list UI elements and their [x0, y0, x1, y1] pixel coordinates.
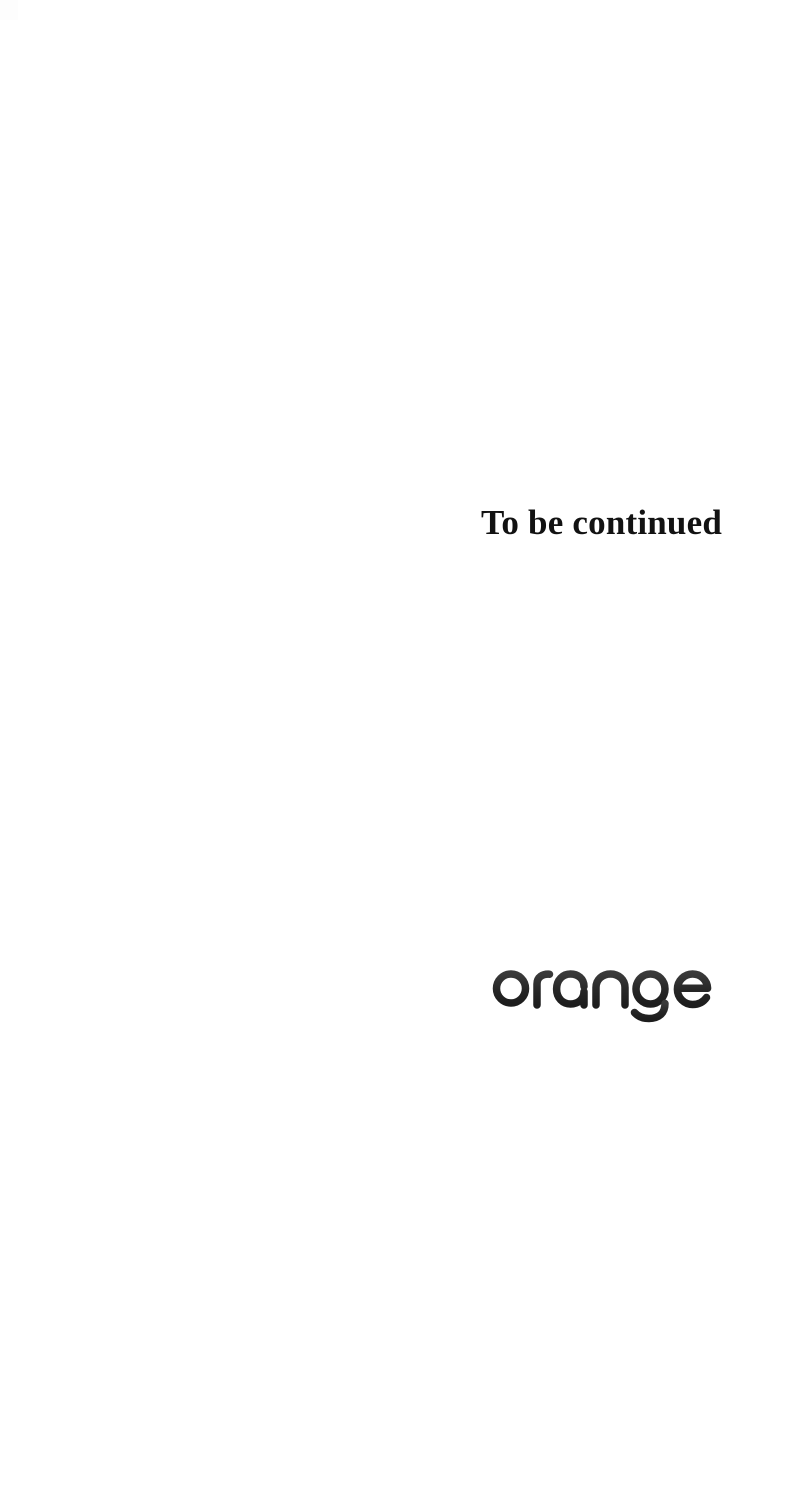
oranged-logo: orange D — [492, 955, 724, 1025]
comic-end-page: To be continued orange D — [0, 0, 800, 1492]
scan-corner-tint — [0, 0, 18, 20]
to-be-continued-caption: To be continued — [0, 503, 722, 543]
oranged-logo-artwork — [492, 955, 724, 1025]
